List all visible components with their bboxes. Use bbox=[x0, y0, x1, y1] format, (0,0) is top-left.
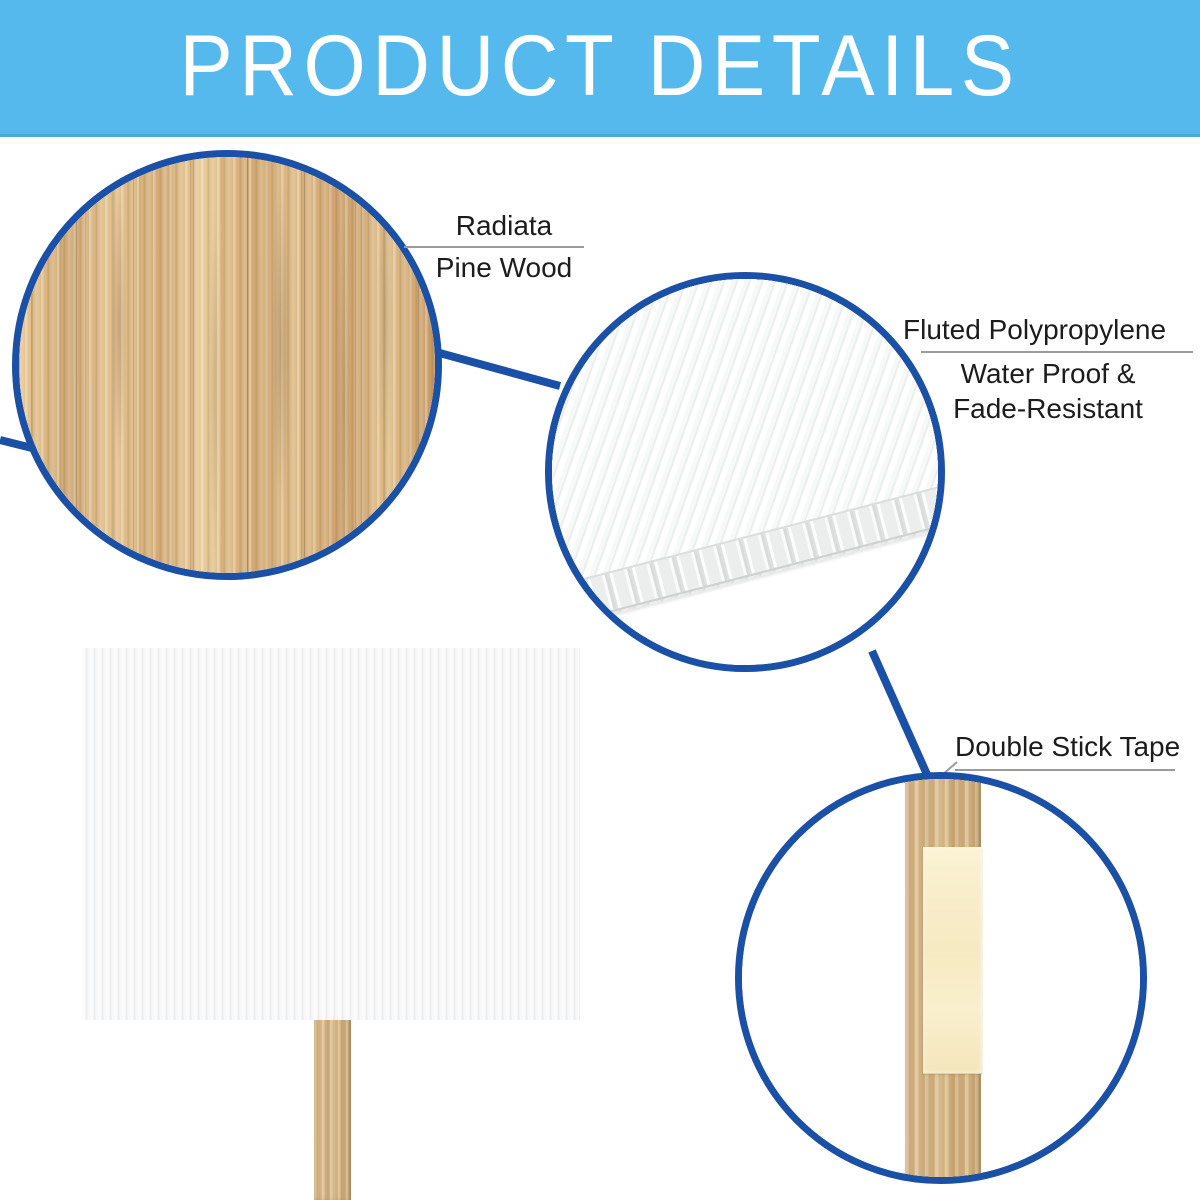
fluted-sheet-scene bbox=[552, 279, 938, 665]
label-double-stick-tape: Double Stick Tape bbox=[955, 729, 1185, 771]
connector-line-wood-to-flute bbox=[436, 352, 560, 386]
label-line-primary: Fluted Polypropylene bbox=[903, 312, 1193, 347]
callout-circle-double-stick-tape bbox=[735, 772, 1147, 1184]
label-line-primary: Radiata bbox=[404, 208, 604, 243]
label-line-tertiary: Fade-Resistant bbox=[903, 391, 1193, 426]
label-divider-rule bbox=[921, 351, 1193, 353]
label-radiata-pine-wood: Radiata Pine Wood bbox=[404, 208, 604, 285]
tape-on-stake-scene bbox=[742, 779, 1140, 1177]
label-divider-rule bbox=[955, 769, 1175, 771]
label-line-secondary: Water Proof & bbox=[903, 356, 1193, 391]
callout-circle-radiata-pine-wood bbox=[12, 150, 442, 580]
wood-grain-streaks bbox=[19, 157, 435, 573]
connector-line-flute-to-tape bbox=[872, 651, 929, 779]
label-fluted-polypropylene: Fluted Polypropylene Water Proof & Fade-… bbox=[903, 312, 1193, 426]
double-stick-tape-strip bbox=[923, 847, 982, 1074]
label-divider-rule bbox=[404, 246, 584, 248]
callout-circle-fluted-polypropylene bbox=[545, 272, 945, 672]
product-corrugated-yard-sign bbox=[82, 648, 580, 1020]
product-details-infographic: PRODUCT DETAILS Radiata Pine Wood Fluted… bbox=[0, 0, 1200, 1200]
label-line-primary: Double Stick Tape bbox=[955, 729, 1185, 764]
